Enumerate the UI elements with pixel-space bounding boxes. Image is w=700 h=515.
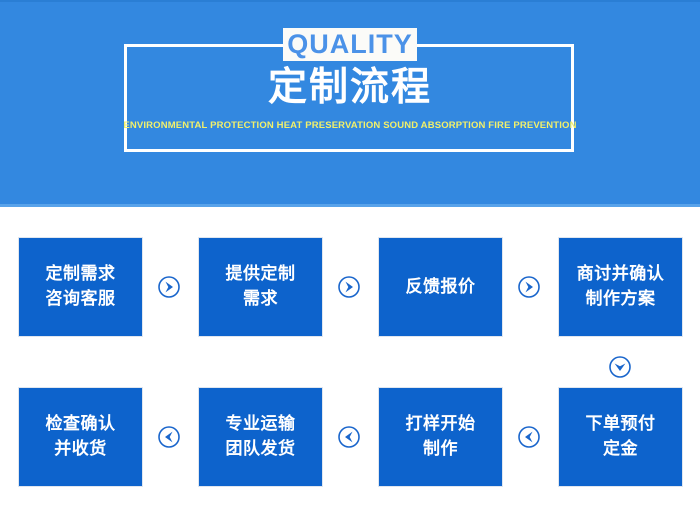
flow-step-box[interactable]: 下单预付 定金 xyxy=(558,387,683,487)
chevron-right-circle-icon xyxy=(517,275,541,299)
chevron-right-circle-icon xyxy=(337,275,361,299)
chevron-left-circle-icon xyxy=(517,425,541,449)
flow-row-2: 检查确认 并收货 专业运输 团队发货 打样开始 制作 下单预付 定金 xyxy=(0,387,700,487)
flow-step-box[interactable]: 反馈报价 xyxy=(378,237,503,337)
process-flow-diagram: 定制需求 咨询客服 提供定制 需求 反馈报价 商讨并确认 制作方案 xyxy=(0,207,700,512)
flow-step-box[interactable]: 提供定制 需求 xyxy=(198,237,323,337)
quality-badge-label: QUALITY xyxy=(287,31,413,58)
chevron-left-circle-icon xyxy=(157,425,181,449)
chevron-down-circle-icon xyxy=(608,355,632,379)
flow-step-box[interactable]: 定制需求 咨询客服 xyxy=(18,237,143,337)
chevron-left-circle-icon xyxy=(337,425,361,449)
banner-header: QUALITY 定制流程 ENVIRONMENTAL PROTECTION HE… xyxy=(0,0,700,207)
chevron-right-circle-icon xyxy=(157,275,181,299)
flow-step-box[interactable]: 打样开始 制作 xyxy=(378,387,503,487)
flow-row-1: 定制需求 咨询客服 提供定制 需求 反馈报价 商讨并确认 制作方案 xyxy=(0,237,700,337)
flow-step-box[interactable]: 检查确认 并收货 xyxy=(18,387,143,487)
page-title: 定制流程 xyxy=(0,68,700,107)
quality-badge: QUALITY xyxy=(283,28,417,61)
page-subtitle: ENVIRONMENTAL PROTECTION HEAT PRESERVATI… xyxy=(0,121,700,131)
flow-step-box[interactable]: 商讨并确认 制作方案 xyxy=(558,237,683,337)
flow-step-box[interactable]: 专业运输 团队发货 xyxy=(198,387,323,487)
